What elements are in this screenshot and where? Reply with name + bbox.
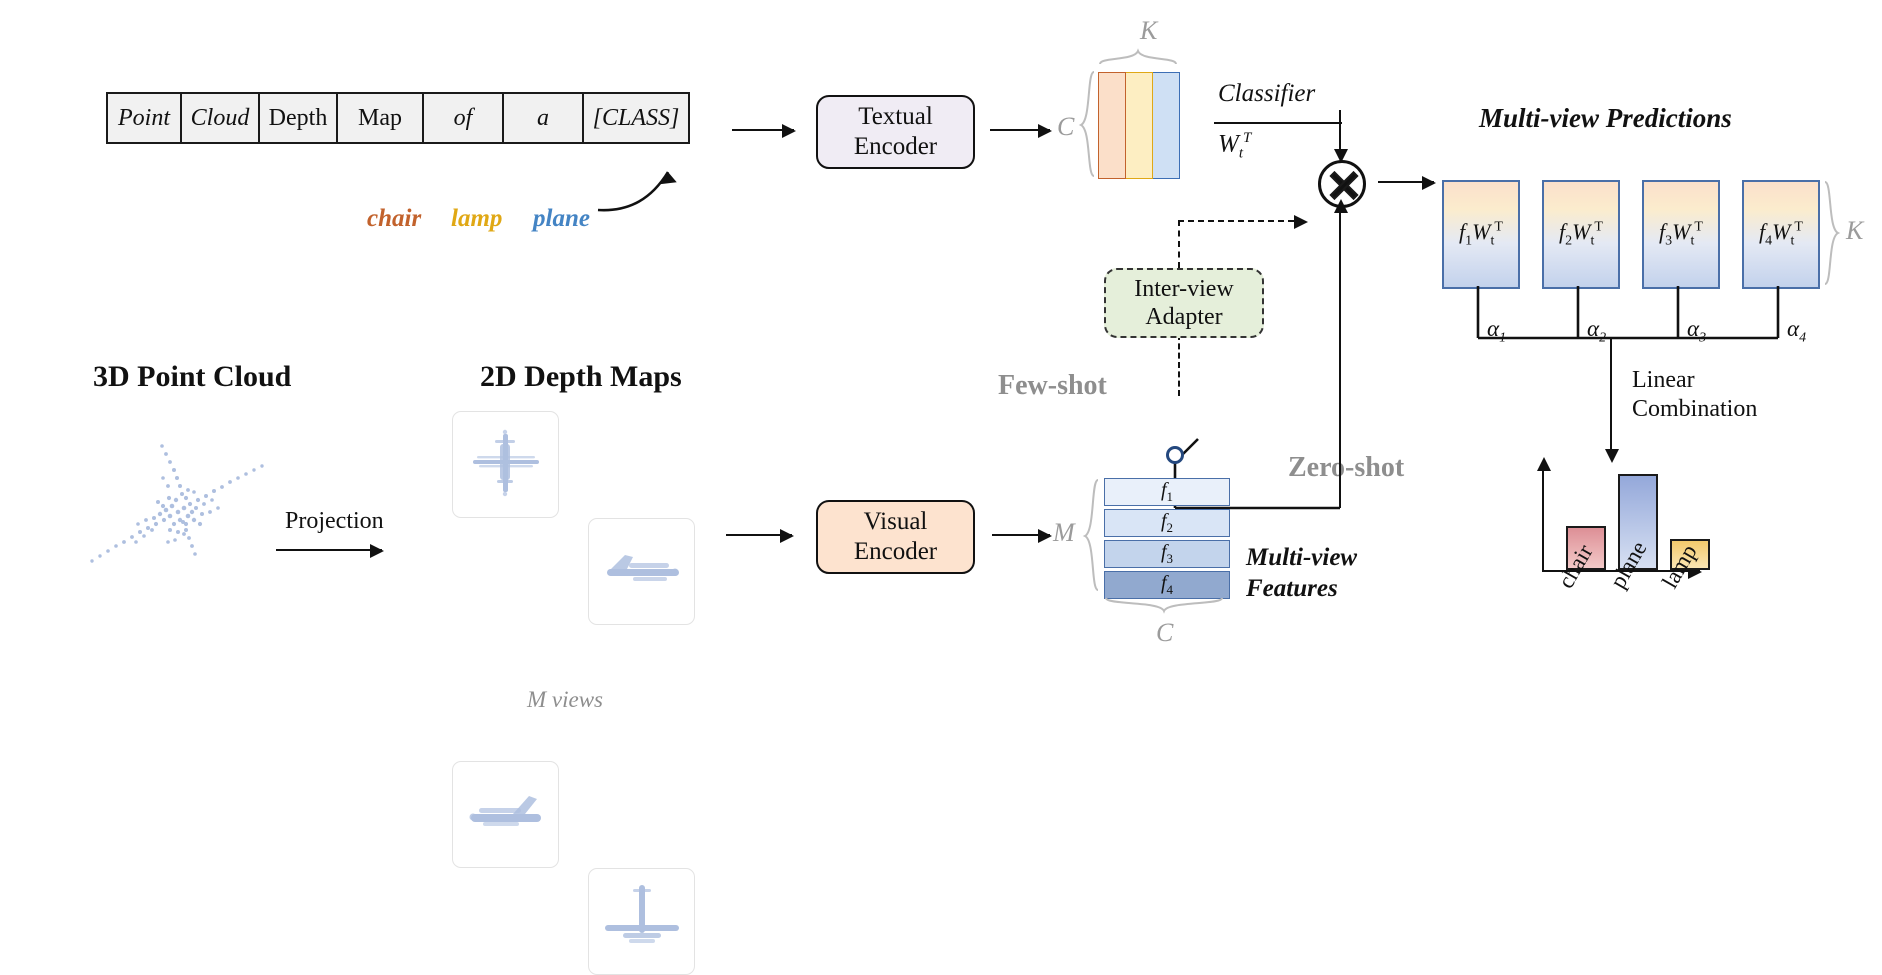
- classifier-column-lamp: [1126, 72, 1153, 179]
- multi-view-features-stack: f1 f2 f3 f4: [1104, 478, 1230, 599]
- prompt-token-2: Depth: [260, 94, 338, 142]
- linear-combination-label: LinearCombination: [1632, 366, 1757, 424]
- alpha-label-1: α1: [1487, 316, 1506, 347]
- arrow-prompt-to-textual-encoder: [732, 129, 794, 131]
- arrow-textual-encoder-to-classifier: [990, 129, 1050, 131]
- arrow-visual-encoder-to-features: [992, 534, 1050, 536]
- depth-map-4-content: [589, 869, 694, 974]
- textual-encoder-label: Textual Encoder: [854, 102, 937, 162]
- inter-view-adapter-box: Inter-view Adapter: [1104, 268, 1264, 338]
- prompt-token-3: Map: [338, 94, 424, 142]
- point-cloud-visual: [70, 430, 290, 590]
- depth-map-thumb-1: [452, 411, 559, 518]
- textual-encoder-box: Textual Encoder: [816, 95, 975, 169]
- prediction-label-1: f1WtT: [1459, 219, 1503, 249]
- class-label-plane: plane: [533, 205, 590, 233]
- inter-view-adapter-label: Inter-view Adapter: [1134, 275, 1233, 332]
- dashed-arrow-adapter-to-operator: [1178, 220, 1304, 222]
- classifier-label: Classifier: [1218, 80, 1315, 108]
- feature-label-1: f1: [1161, 479, 1173, 505]
- prediction-box-3: f3WtT: [1642, 180, 1720, 289]
- point-cloud-title: 3D Point Cloud: [93, 360, 291, 394]
- prompt-token-0: Point: [108, 94, 182, 142]
- classifier-column-plane: [1153, 72, 1180, 179]
- features-cols-dim-label: C: [1156, 618, 1173, 648]
- prediction-label-2: f2WtT: [1559, 219, 1603, 249]
- features-rows-dim-label: M: [1053, 518, 1075, 548]
- alpha-label-4: α4: [1787, 316, 1806, 347]
- prompt-token-6: [CLASS]: [584, 94, 688, 142]
- prompt-token-1: Cloud: [182, 94, 260, 142]
- predictions-dim-brace: [1822, 180, 1842, 286]
- class-label-lamp: lamp: [451, 205, 502, 233]
- class-to-token-curved-arrow: [590, 150, 700, 225]
- depth-map-thumb-3: [452, 761, 559, 868]
- arrow-classifier-to-operator: [1339, 110, 1341, 150]
- alpha-label-3: α3: [1687, 316, 1706, 347]
- multi-view-predictions-title: Multi-view Predictions: [1479, 103, 1732, 134]
- arrow-operator-to-predictions: [1378, 181, 1434, 183]
- predictions-dim-label: K: [1846, 216, 1863, 246]
- few-shot-label: Few-shot: [998, 370, 1107, 402]
- arrow-features-to-operator: [1339, 212, 1341, 508]
- prediction-box-4: f4WtT: [1742, 180, 1820, 289]
- prediction-label-4: f4WtT: [1759, 219, 1803, 249]
- feature-bar-1: f1: [1104, 478, 1230, 506]
- classifier-rows-brace: [1078, 70, 1098, 180]
- feature-label-4: f4: [1161, 572, 1173, 598]
- classifier-rows-dim-label: C: [1057, 112, 1074, 142]
- visual-encoder-box: Visual Encoder: [816, 500, 975, 574]
- classifier-cols-dim-label: K: [1140, 16, 1157, 46]
- alpha-label-2: α2: [1587, 316, 1606, 347]
- visual-encoder-label: Visual Encoder: [854, 507, 937, 567]
- prompt-token-5: a: [504, 94, 584, 142]
- classifier-fraction-bar: [1214, 122, 1342, 124]
- depth-map-thumb-2: [588, 518, 695, 625]
- features-cols-brace: [1104, 596, 1228, 616]
- feature-label-3: f3: [1161, 541, 1173, 567]
- classifier-column-chair: [1098, 72, 1126, 179]
- prompt-token-4: of: [424, 94, 504, 142]
- depth-map-1-content: [453, 412, 558, 517]
- arrow-depthmaps-to-visual-encoder: [726, 534, 792, 536]
- prediction-box-1: f1WtT: [1442, 180, 1520, 289]
- features-rows-brace: [1082, 478, 1102, 594]
- class-label-chair: chair: [367, 205, 421, 233]
- depth-map-2-content: [589, 519, 694, 624]
- depth-map-thumb-4: [588, 868, 695, 975]
- prediction-box-2: f2WtT: [1542, 180, 1620, 289]
- multi-view-features-title: Multi-viewFeatures: [1246, 542, 1357, 605]
- chart-y-axis: [1542, 470, 1544, 570]
- feature-bar-2: f2: [1104, 509, 1230, 537]
- classifier-matrix: [1098, 72, 1180, 179]
- feature-label-2: f2: [1161, 510, 1173, 536]
- depth-maps-caption: M views: [527, 687, 603, 713]
- feature-bar-3: f3: [1104, 540, 1230, 568]
- projection-label: Projection: [285, 508, 384, 535]
- arrow-linear-combination: [1610, 338, 1612, 450]
- prediction-label-3: f3WtT: [1659, 219, 1703, 249]
- prompt-token-box: Point Cloud Depth Map of a [CLASS]: [106, 92, 690, 144]
- depth-maps-title: 2D Depth Maps: [480, 360, 682, 394]
- dashed-line-adapter-vertical-lower: [1178, 334, 1180, 396]
- depth-map-3-content: [453, 762, 558, 867]
- dashed-line-adapter-vertical: [1178, 220, 1180, 268]
- arrow-projection: [276, 549, 382, 551]
- feature-bar-4: f4: [1104, 571, 1230, 599]
- classifier-cols-brace: [1098, 48, 1178, 68]
- classifier-weight-label: WtT: [1218, 130, 1251, 162]
